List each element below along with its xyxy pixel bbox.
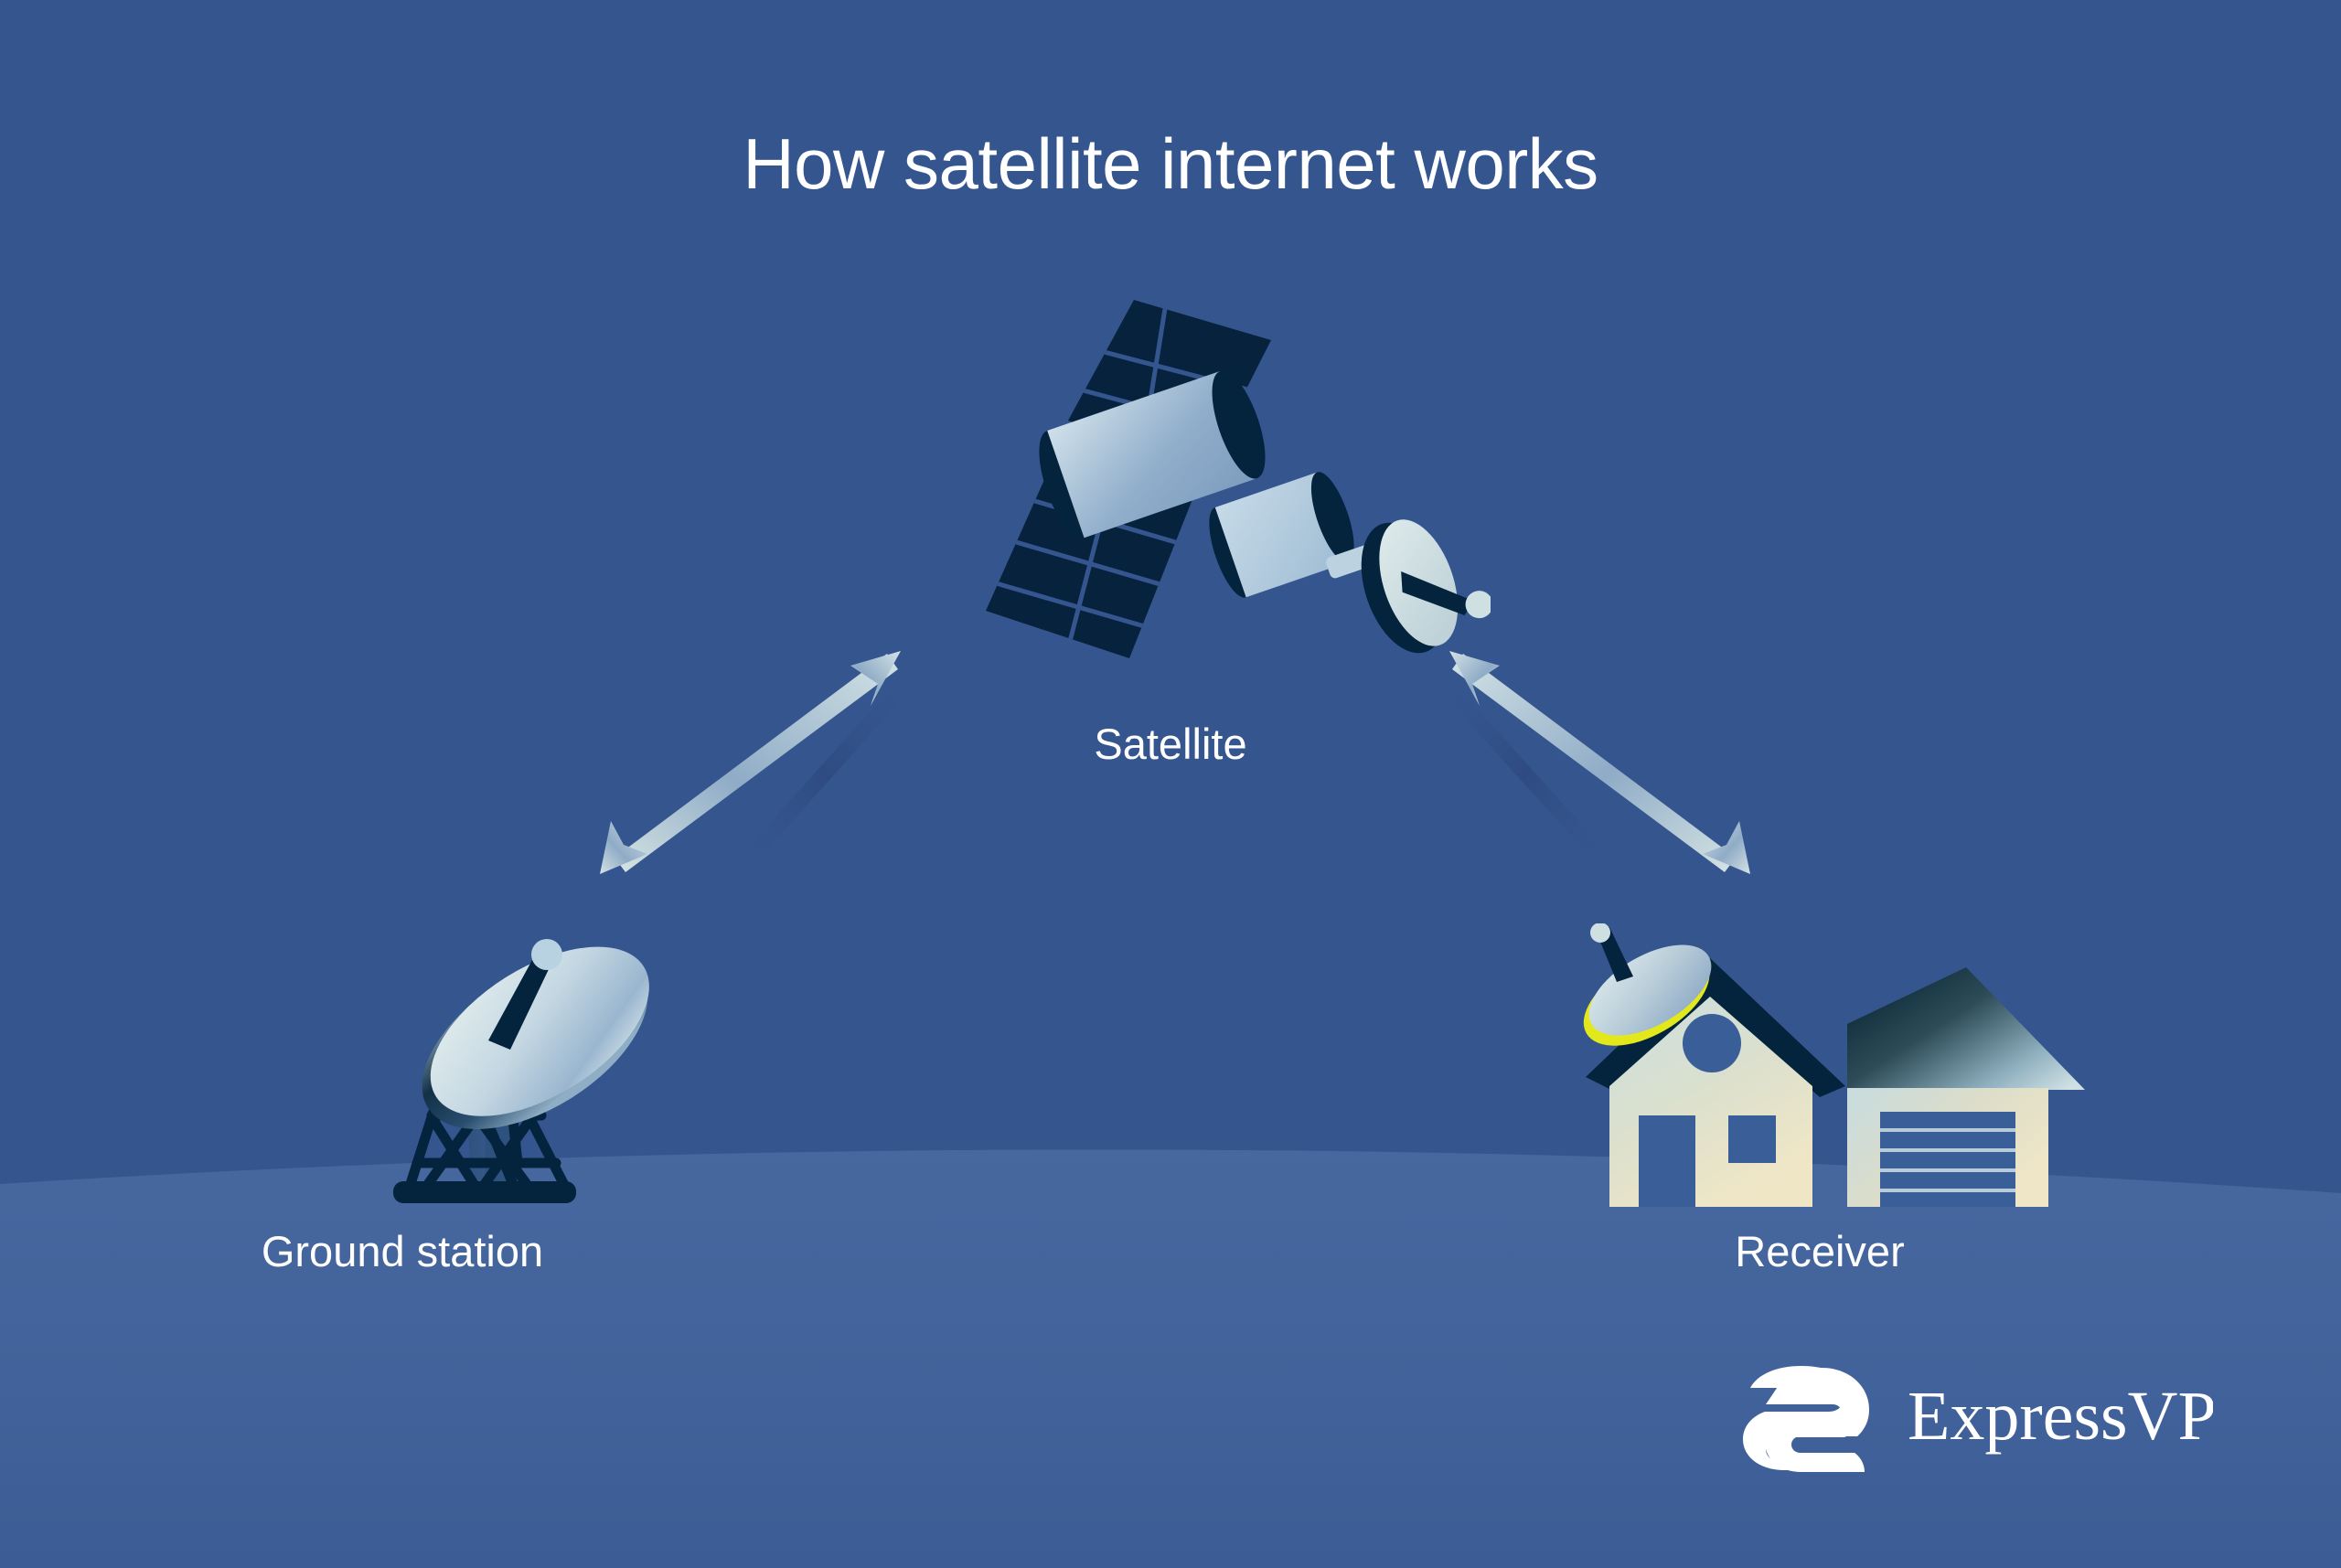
signal-arrow-ground-to-satellite bbox=[576, 631, 942, 896]
satellite-icon bbox=[905, 293, 1491, 677]
expressvpn-logo-icon: ExpressVPN bbox=[1737, 1362, 2213, 1472]
label-ground-station: Ground station bbox=[101, 1230, 704, 1273]
brand-wordmark: ExpressVPN bbox=[1908, 1378, 2213, 1455]
ground-plane bbox=[0, 0, 2341, 1568]
page-title: How satellite internet works bbox=[0, 128, 2341, 199]
parabolic-dish-icon bbox=[384, 923, 860, 1234]
infographic-canvas: How satellite internet works bbox=[0, 0, 2341, 1568]
signal-arrow-satellite-to-receiver bbox=[1408, 631, 1774, 896]
label-receiver: Receiver bbox=[1545, 1230, 2094, 1273]
house-with-dish-icon bbox=[1573, 923, 2085, 1225]
label-satellite: Satellite bbox=[933, 722, 1408, 765]
